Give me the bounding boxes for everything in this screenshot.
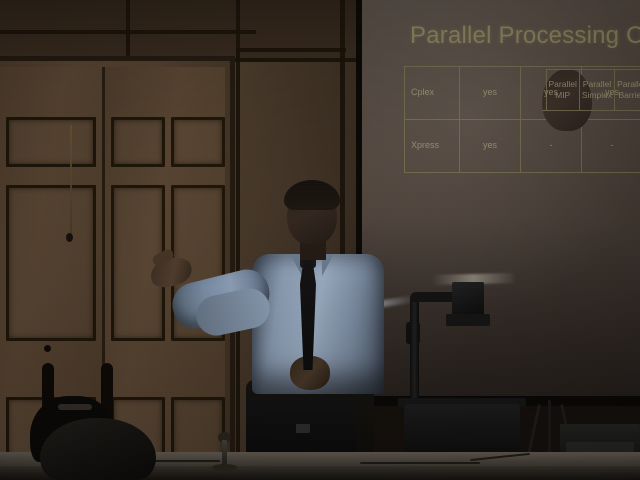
table-row: Cplex yes yes yes yes [405,67,640,120]
overhead-projector-arm [410,300,419,404]
door-panel-top-left [6,117,96,167]
cell-cplex-parallel-barrier: yes [582,67,640,120]
cable-a [150,460,220,462]
presenter-hair [284,180,340,210]
wall-molding-vertical-a [126,0,130,60]
overhead-projector-head [452,282,484,318]
screen-vignette [362,0,640,396]
laptop-logo-badge [296,424,310,433]
cell-cplex-parallel-mip: yes [460,67,521,120]
door-panel-mid-left [6,185,96,341]
slide-comparison-table: Parallel MIP Parallel Simplex Parallel B… [404,66,640,173]
projection-screen: Parallel Processing Op Parallel MIP Para… [362,0,640,396]
presentation-photo: Parallel Processing Op Parallel MIP Para… [0,0,640,480]
row-label-xpress: Xpress [405,120,460,173]
cell-xpress-parallel-simplex: - [521,120,582,173]
door-panel-top-right-a [111,117,165,167]
chair-back-gap [58,404,92,410]
door-panel-top-right-b [171,117,225,167]
cell-cplex-parallel-simplex: yes [521,67,582,120]
wall-molding-horizontal-right [236,48,346,52]
hanging-cord [70,125,72,235]
microphone-base [212,464,237,471]
cell-xpress-parallel-mip: yes [460,120,521,173]
cord-bead [66,233,73,242]
table-row: Xpress yes - - yes [405,120,640,173]
cell-xpress-parallel-barrier: - [582,120,640,173]
slide-title: Parallel Processing Op [410,22,640,50]
cable-b [360,462,480,464]
overhead-projector-mirror[interactable] [446,314,490,326]
row-label-cplex: Cplex [405,67,460,120]
door-lock-knob[interactable] [44,345,51,352]
